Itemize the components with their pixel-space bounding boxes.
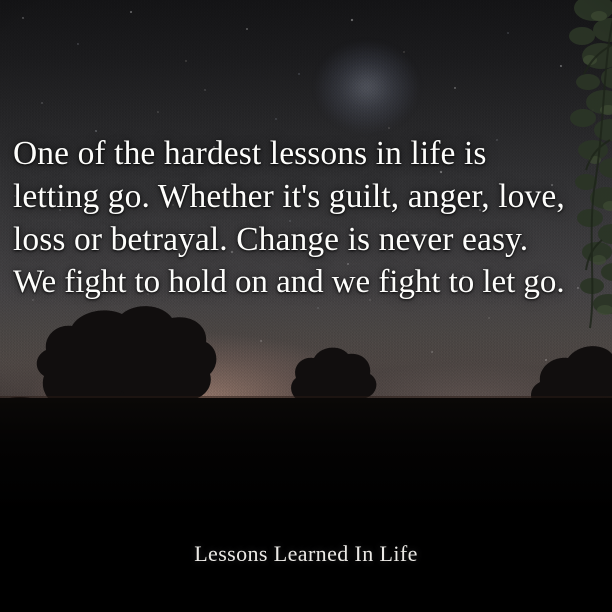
attribution-label: Lessons Learned In Life (0, 541, 612, 567)
quote-line-2: letting go. Whether it's guilt, anger, l… (13, 175, 605, 218)
quote-line-3: loss or betrayal. Change is never easy. (13, 218, 605, 261)
quote-line-1: One of the hardest lessons in life is (13, 132, 605, 175)
quote-text-block: One of the hardest lessons in life is le… (13, 132, 605, 304)
dark-ground (0, 398, 612, 612)
quote-poster: One of the hardest lessons in life is le… (0, 0, 612, 612)
quote-line-4: We fight to hold on and we fight to let … (13, 261, 605, 304)
